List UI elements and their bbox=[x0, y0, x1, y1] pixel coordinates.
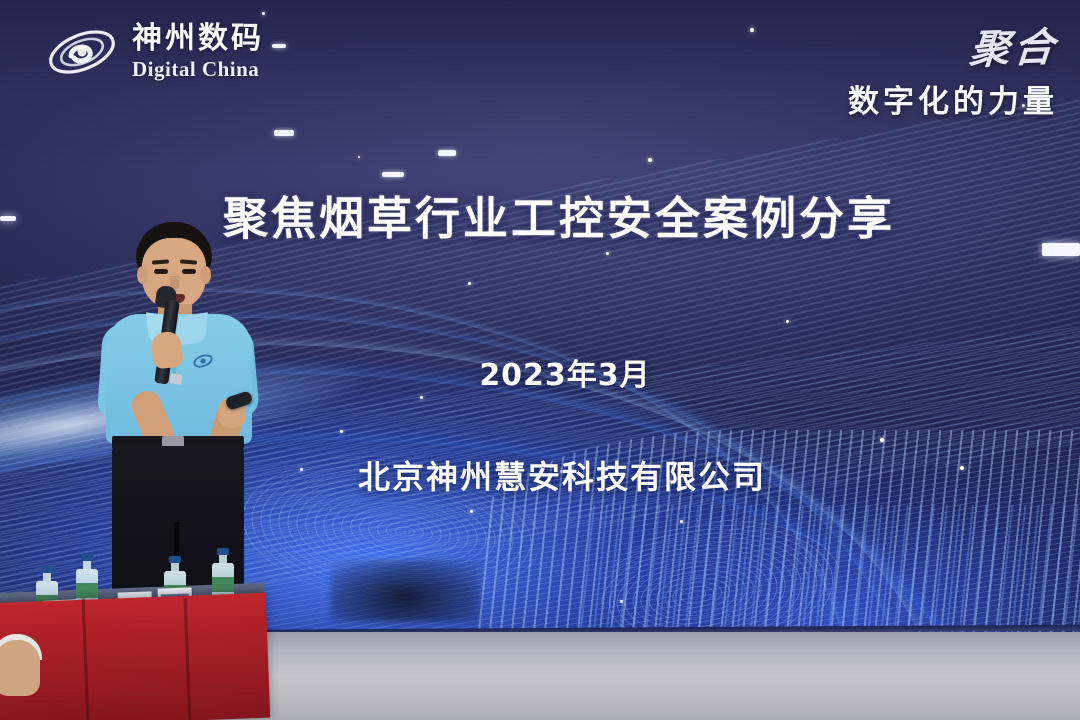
conference-stage-photo: 神州数码 Digital China 聚合 数字化的力量 聚焦烟草行业工控安全案… bbox=[0, 0, 1080, 720]
particle-dot bbox=[680, 520, 683, 523]
bottle-neck bbox=[171, 563, 179, 571]
swirl-galaxy-logo-icon bbox=[44, 22, 120, 82]
particle-dash bbox=[382, 172, 404, 177]
bottle-label bbox=[212, 577, 234, 592]
speaker-ear-left bbox=[137, 266, 148, 284]
shirt-logo-badge-icon bbox=[192, 350, 214, 372]
bottle-neck bbox=[83, 561, 91, 569]
particle-dot bbox=[606, 252, 609, 255]
event-slogan: 聚合 数字化的力量 bbox=[848, 16, 1058, 121]
particle-dot bbox=[786, 320, 789, 323]
particle-dot bbox=[340, 430, 343, 433]
bottle-label bbox=[76, 583, 98, 598]
particle-dash bbox=[272, 44, 286, 48]
microphone-tip bbox=[169, 373, 182, 385]
bottle-neck bbox=[43, 573, 51, 581]
particle-dot bbox=[468, 282, 471, 285]
bottle-cap bbox=[217, 548, 229, 555]
particle-dot bbox=[750, 28, 754, 32]
logo-chinese-name: 神州数码 bbox=[132, 24, 264, 54]
water-bottle bbox=[76, 554, 98, 598]
light-stream-fall bbox=[580, 505, 1080, 640]
slogan-calligraphy: 聚合 bbox=[967, 14, 1060, 75]
particle-dot bbox=[648, 158, 652, 162]
particle-dot bbox=[420, 396, 423, 399]
audience-member-head bbox=[0, 640, 40, 696]
speaker-eye-left bbox=[154, 269, 168, 274]
water-bottle bbox=[212, 548, 234, 592]
particle-dot bbox=[620, 600, 623, 603]
bottle-neck bbox=[219, 555, 227, 563]
slogan-subtitle: 数字化的力量 bbox=[848, 76, 1058, 121]
digital-china-logo: 神州数码 Digital China bbox=[44, 22, 264, 82]
speaker-eye-right bbox=[182, 269, 196, 274]
bottle-cap bbox=[81, 554, 93, 561]
particle-dot bbox=[358, 156, 360, 158]
bottle-cap bbox=[41, 566, 53, 573]
particle-dash bbox=[438, 150, 456, 156]
particle-dot bbox=[880, 438, 884, 442]
digital-china-wordmark: 神州数码 Digital China bbox=[132, 24, 264, 80]
particle-dash bbox=[274, 130, 294, 136]
speaker-ear-right bbox=[200, 266, 211, 284]
bottle-cap bbox=[169, 556, 181, 563]
particle-dot bbox=[262, 12, 265, 15]
particle-dot bbox=[470, 510, 473, 513]
background-shadow-blur bbox=[330, 560, 480, 622]
logo-english-name: Digital China bbox=[132, 59, 264, 80]
